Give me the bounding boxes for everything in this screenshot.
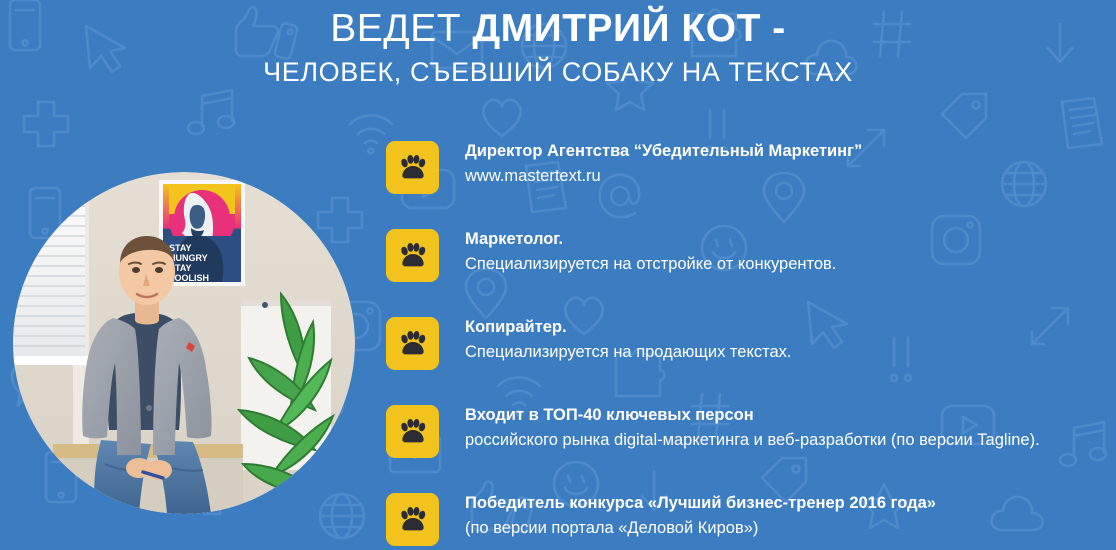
heading-line-1: ВЕДЕТ ДМИТРИЙ КОТ - bbox=[0, 6, 1116, 52]
list-item-text: Победитель конкурса «Лучший бизнес-трене… bbox=[465, 491, 936, 541]
list-item-text: Директор Агентства “Убедительный Маркети… bbox=[465, 139, 862, 189]
list-item-title: Входит в ТОП-40 ключевых персон bbox=[465, 403, 1040, 428]
paw-print-icon bbox=[386, 493, 439, 546]
paw-print-icon bbox=[386, 141, 439, 194]
speaker-portrait-photo: STAY HUNGRY STAY FOOLISH bbox=[13, 172, 355, 514]
paw-print-icon bbox=[386, 405, 439, 458]
banner-heading: ВЕДЕТ ДМИТРИЙ КОТ - ЧЕЛОВЕК, СЪЕВШИЙ СОБ… bbox=[0, 6, 1116, 89]
list-item-text: Входит в ТОП-40 ключевых персон российск… bbox=[465, 403, 1040, 453]
list-item-subtitle: (по версии портала «Деловой Киров») bbox=[465, 516, 936, 541]
poster-line-4: FOOLISH bbox=[169, 273, 209, 283]
heading-lead-word: ВЕДЕТ bbox=[330, 7, 472, 50]
poster-line-2: HUNGRY bbox=[169, 253, 208, 263]
list-item-subtitle: Специализируется на продающих текстах. bbox=[465, 340, 792, 365]
poster-line-1: STAY bbox=[169, 243, 192, 253]
list-item-text: Копирайтер. Специализируется на продающи… bbox=[465, 315, 792, 365]
list-item-text: Маркетолог. Специализируется на отстройк… bbox=[465, 227, 836, 277]
list-item-title: Маркетолог. bbox=[465, 227, 836, 252]
list-item-title: Победитель конкурса «Лучший бизнес-трене… bbox=[465, 491, 936, 516]
list-item-title: Директор Агентства “Убедительный Маркети… bbox=[465, 139, 862, 164]
list-item-subtitle: российского рынка digital-маркетинга и в… bbox=[465, 428, 1040, 453]
paw-print-icon bbox=[386, 317, 439, 370]
list-item-subtitle: Специализируется на отстройке от конкуре… bbox=[465, 252, 836, 277]
list-item-subtitle[interactable]: www.mastertext.ru bbox=[465, 164, 862, 189]
heading-line-2: ЧЕЛОВЕК, СЪЕВШИЙ СОБАКУ НА ТЕКСТАХ bbox=[0, 55, 1116, 89]
heading-name: ДМИТРИЙ КОТ - bbox=[472, 7, 785, 50]
list-item-title: Копирайтер. bbox=[465, 315, 792, 340]
promo-banner: ВЕДЕТ ДМИТРИЙ КОТ - ЧЕЛОВЕК, СЪЕВШИЙ СОБ… bbox=[0, 0, 1116, 550]
portrait-illustration: STAY HUNGRY STAY FOOLISH bbox=[13, 172, 355, 514]
paw-print-icon bbox=[386, 229, 439, 282]
